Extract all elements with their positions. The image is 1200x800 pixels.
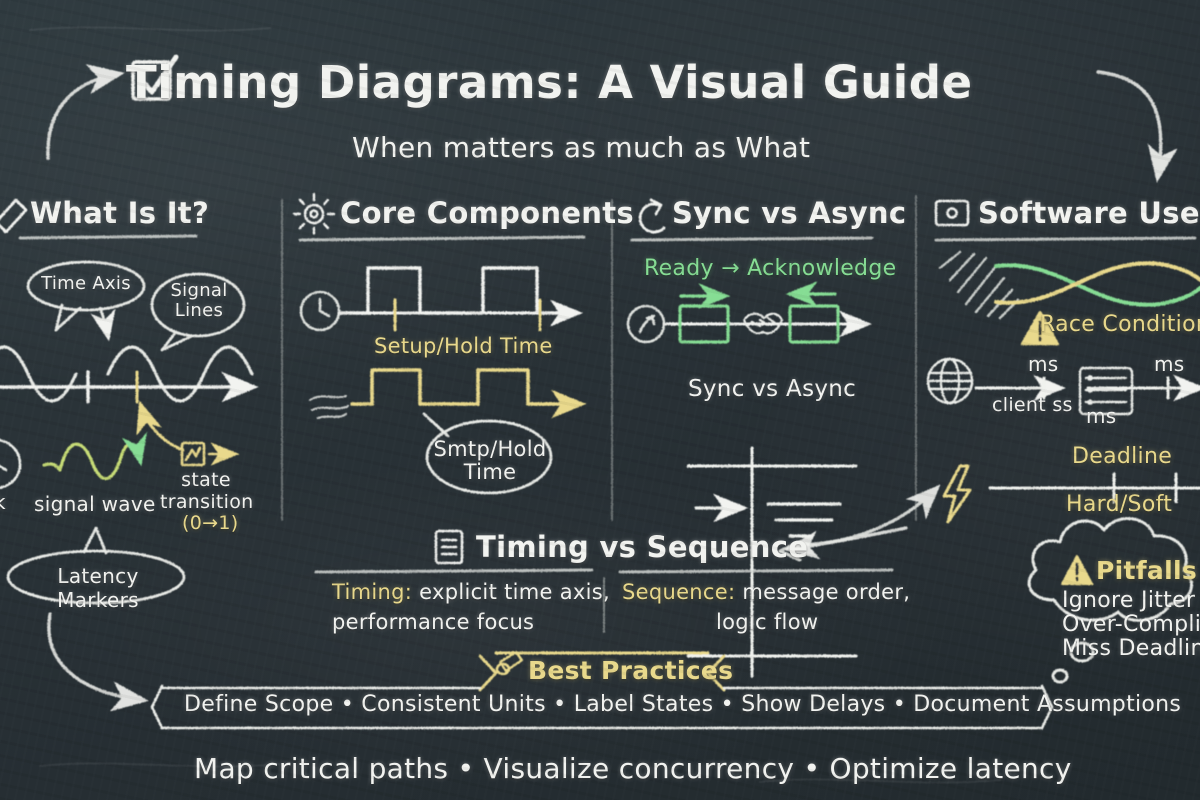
page-title: Timing Diagrams: A Visual Guide bbox=[126, 56, 972, 109]
sync-box-left bbox=[680, 296, 728, 342]
sequence-column-value: message order, bbox=[742, 580, 910, 604]
timing-sequence-underlines bbox=[316, 570, 892, 572]
lightning-bolt-icon bbox=[944, 466, 970, 522]
arrow-to-best-practices bbox=[49, 614, 142, 700]
deadline-label: Deadline bbox=[1072, 444, 1172, 469]
sync-compare-title: Sync vs Async bbox=[688, 376, 856, 402]
footer-tagline: Map critical paths • Visualize concurren… bbox=[194, 752, 1072, 785]
sequence-column: Sequence: message order, bbox=[622, 580, 910, 604]
section-header-core-components[interactable]: Core Components bbox=[340, 196, 634, 230]
data-square-wave bbox=[352, 370, 580, 404]
globe-icon bbox=[928, 359, 972, 403]
bubble-time-axis-label: Time Axis bbox=[38, 273, 134, 294]
clock-icon-core bbox=[301, 292, 339, 330]
pitfalls-title: Pitfalls bbox=[1096, 556, 1197, 585]
monitor-icon bbox=[936, 201, 968, 225]
section-underlines bbox=[20, 236, 1195, 240]
state-transition-detail: (0→1) bbox=[182, 512, 238, 534]
race-wave-green bbox=[996, 265, 1200, 305]
sync-box-right bbox=[790, 294, 838, 342]
timing-vs-sequence-title[interactable]: Timing vs Sequence bbox=[476, 530, 808, 564]
setup-hold-ticks bbox=[395, 300, 540, 330]
latency-ms-label-2: ms bbox=[1154, 352, 1185, 376]
setup-hold-time-label: Setup/Hold Time bbox=[374, 334, 553, 358]
ready-acknowledge-label: Ready → Acknowledge bbox=[644, 256, 896, 281]
curved-arrow-down-icon bbox=[1098, 72, 1161, 176]
timing-column-key: Timing: bbox=[332, 580, 412, 604]
timing-column-value: explicit time axis, bbox=[419, 580, 610, 604]
bubble-setup-hold-label: Smtp/HoldTime bbox=[430, 438, 550, 484]
refresh-icon bbox=[640, 200, 664, 232]
section-header-what-is-it[interactable]: What Is It? bbox=[30, 196, 209, 230]
clock-icon bbox=[0, 440, 20, 488]
state-transition-icon bbox=[182, 443, 234, 465]
pencil-icon-best-practices bbox=[497, 652, 522, 674]
sequence-column-value2: logic flow bbox=[716, 610, 818, 634]
state-transition-label: statetransition bbox=[160, 470, 252, 513]
latency-ms-label-3: ms bbox=[1086, 404, 1117, 428]
timing-column-value2: performance focus bbox=[332, 610, 534, 634]
curved-arrow-right-icon bbox=[48, 74, 118, 158]
bubble-signal-lines-label: SignalLines bbox=[166, 281, 232, 321]
latency-ms-label-1: ms bbox=[1028, 352, 1059, 376]
clock-label: k bbox=[0, 490, 6, 514]
timing-column: Timing: explicit time axis, bbox=[332, 580, 610, 604]
section-header-software-use-cases[interactable]: Software Use C bbox=[978, 196, 1200, 230]
race-condition-label: Race Condition bbox=[1040, 312, 1200, 337]
best-practices-title[interactable]: Best Practices bbox=[528, 656, 733, 685]
state-transition-arrow bbox=[141, 406, 183, 450]
best-practices-items: Define Scope • Consistent Units • Label … bbox=[184, 692, 1181, 717]
handshake-icon bbox=[744, 314, 782, 334]
bubble-latency-markers-label: Latency Markers bbox=[18, 564, 178, 612]
list-icon bbox=[436, 531, 462, 563]
pitfalls-item-2: Miss Deadlines bbox=[1062, 636, 1200, 661]
signal-wave-label: signal wave bbox=[34, 492, 156, 516]
chalkboard-canvas: Timing Diagrams: A Visual Guide When mat… bbox=[0, 0, 1200, 800]
gear-icon bbox=[294, 194, 334, 234]
hatch-pattern bbox=[940, 252, 1018, 318]
column-dividers bbox=[282, 196, 916, 520]
time-axis-line bbox=[0, 372, 252, 402]
warning-triangle-icon-pitfalls bbox=[1062, 556, 1092, 584]
sequence-column-key: Sequence: bbox=[622, 580, 735, 604]
chalk-scribble-core bbox=[310, 396, 348, 418]
clock-square-wave bbox=[339, 268, 577, 313]
signal-wave-sample bbox=[44, 444, 140, 479]
pitfalls-item-1: Over-Complica bbox=[1062, 612, 1200, 637]
pencil-icon-what bbox=[0, 200, 26, 232]
client-server-label: client ss bbox=[992, 394, 1073, 416]
page-subtitle: When matters as much as What bbox=[352, 131, 810, 164]
signal-sine-white bbox=[0, 347, 252, 401]
section-header-sync-vs-async[interactable]: Sync vs Async bbox=[672, 196, 906, 230]
hard-soft-label: Hard/Soft bbox=[1066, 492, 1172, 517]
sync-node-icon bbox=[628, 306, 664, 342]
race-wave-yellow bbox=[996, 263, 1200, 303]
pitfalls-item-0: Ignore Jitter bbox=[1062, 588, 1195, 613]
